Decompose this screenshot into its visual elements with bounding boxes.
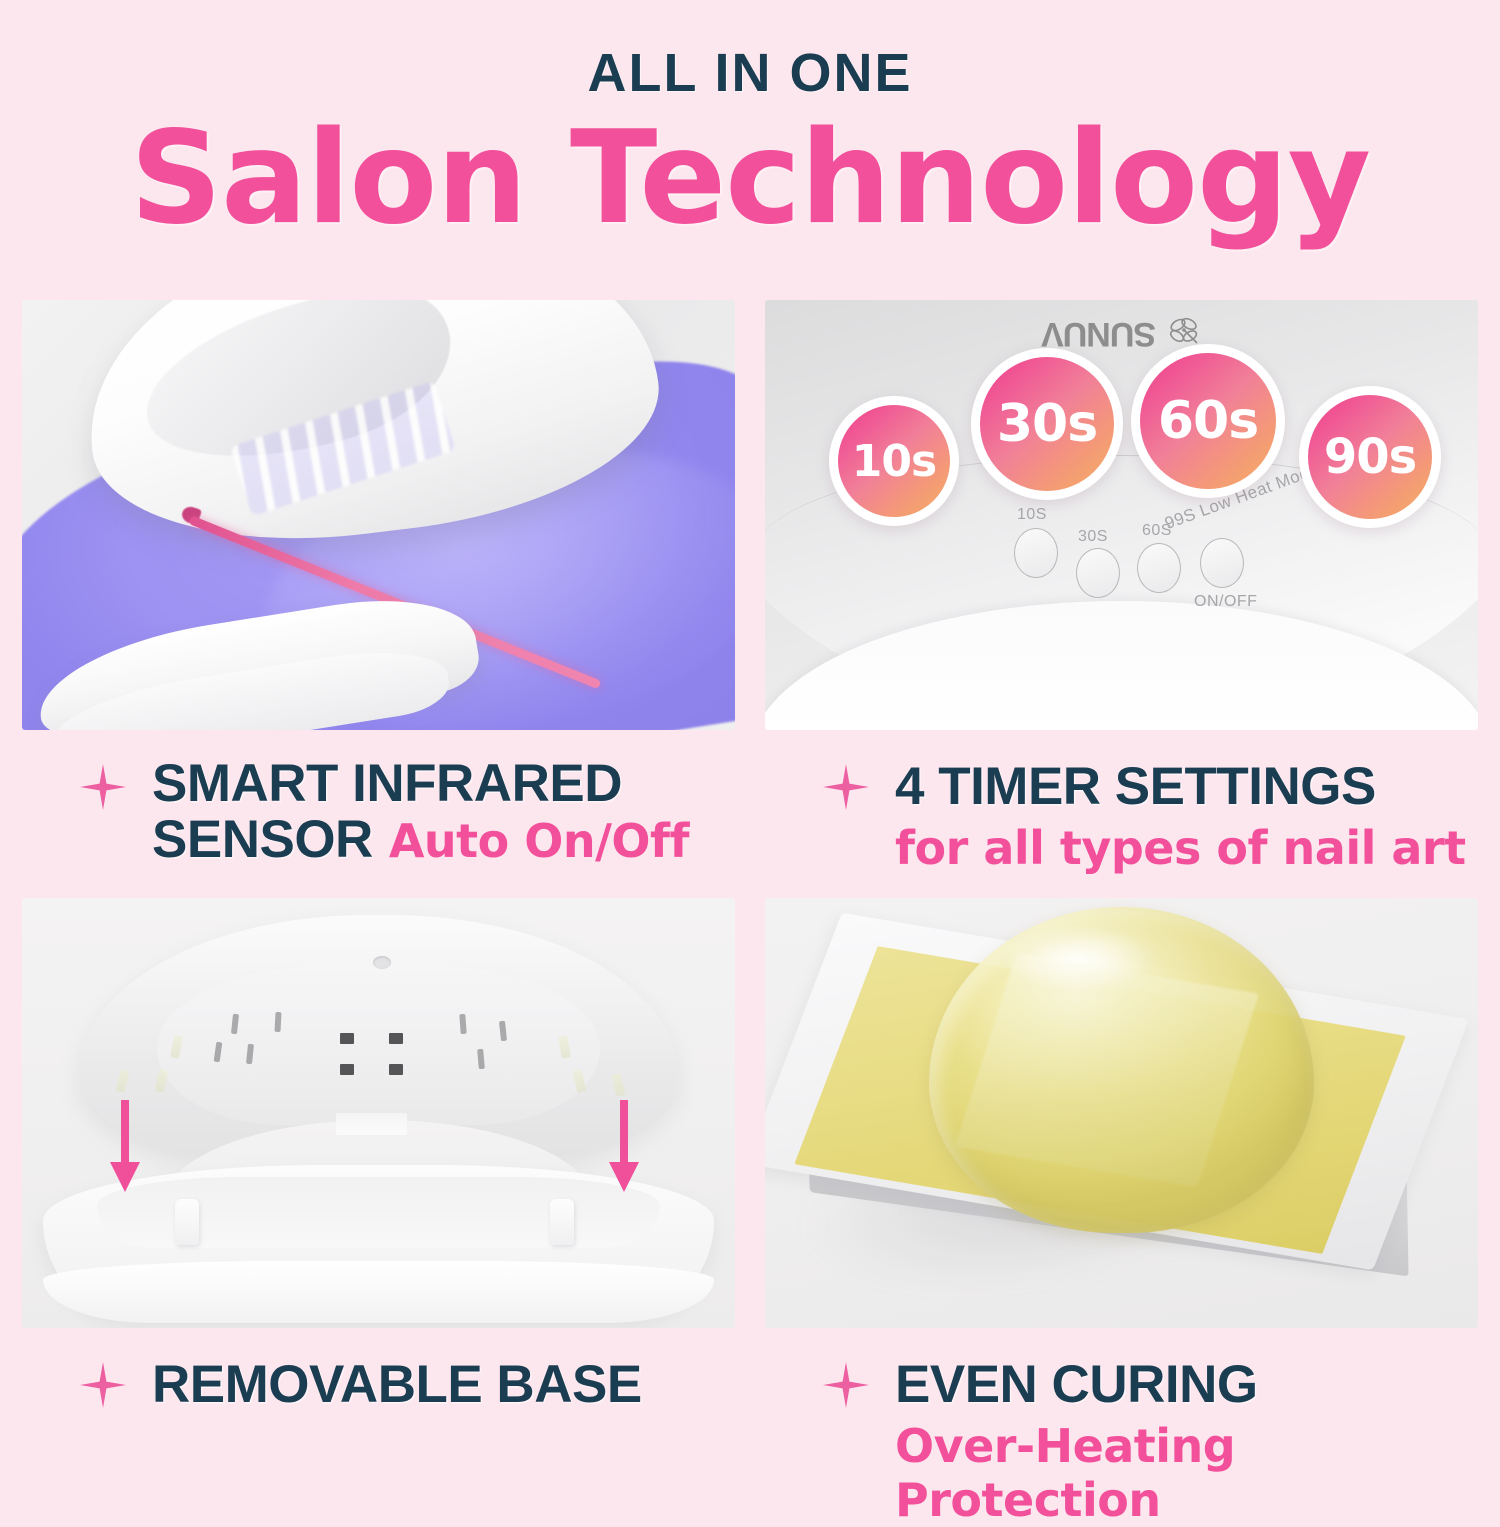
feature-cell-smart-infrared-sensor: SMART INFRARED SENSORAuto On/Off bbox=[22, 300, 735, 880]
caption-line-1: SMART INFRARED bbox=[152, 788, 622, 805]
hood-vent bbox=[340, 1064, 354, 1075]
caption-text-wrap: REMOVABLE BASE bbox=[152, 1354, 642, 1415]
caption-smart-infrared-sensor: SMART INFRARED SENSORAuto On/Off bbox=[22, 730, 735, 880]
caption-title: SMART INFRARED bbox=[152, 754, 622, 813]
feature-cell-even-curing: EVEN CURING Over-Heating Protection bbox=[765, 898, 1478, 1527]
timer-bubble-30s: 30s bbox=[971, 348, 1123, 500]
feature-cell-timer-settings: SUNUV bbox=[765, 300, 1478, 880]
hood-sensor-dot bbox=[373, 956, 391, 969]
lamp-control-panel-photo: SUNUV bbox=[765, 300, 1478, 730]
lamp-removable-base-photo bbox=[22, 898, 735, 1328]
caption-timer-settings: 4 TIMER SETTINGS for all types of nail a… bbox=[765, 730, 1478, 880]
base-alignment-peg bbox=[550, 1199, 574, 1245]
sparkle-icon bbox=[80, 764, 126, 810]
feature-grid: SMART INFRARED SENSORAuto On/Off SUNUV bbox=[22, 300, 1478, 1527]
header-kicker: ALL IN ONE bbox=[0, 46, 1500, 100]
base-alignment-peg bbox=[175, 1199, 199, 1245]
feature-row-2: REMOVABLE BASE bbox=[22, 898, 1478, 1527]
sparkle-icon bbox=[823, 764, 869, 810]
caption-text-wrap: 4 TIMER SETTINGS for all types of nail a… bbox=[895, 756, 1466, 875]
caption-subtitle: for all types of nail art bbox=[895, 821, 1466, 875]
down-arrow-icon bbox=[108, 1100, 142, 1197]
caption-even-curing: EVEN CURING Over-Heating Protection bbox=[765, 1328, 1478, 1527]
feature-row-1: SMART INFRARED SENSORAuto On/Off SUNUV bbox=[22, 300, 1478, 880]
caption-line-2: SENSORAuto On/Off bbox=[152, 844, 689, 861]
uv-lamp-infrared-sensor-photo bbox=[22, 300, 735, 730]
caption-title: EVEN CURING bbox=[895, 1354, 1478, 1415]
timer-bubble-group: 10s 30s 60s 90s bbox=[765, 300, 1478, 730]
sparkle-icon bbox=[80, 1362, 126, 1408]
base-tray-lip bbox=[43, 1261, 713, 1323]
caption-title: REMOVABLE BASE bbox=[152, 1354, 642, 1415]
caption-title: 4 TIMER SETTINGS bbox=[895, 756, 1466, 817]
caption-title-line2: SENSOR bbox=[152, 810, 373, 869]
page-title: Salon Technology bbox=[0, 114, 1500, 245]
hood-vent bbox=[389, 1064, 403, 1075]
caption-removable-base: REMOVABLE BASE bbox=[22, 1328, 735, 1478]
hood-vent bbox=[340, 1033, 354, 1044]
feature-cell-removable-base: REMOVABLE BASE bbox=[22, 898, 735, 1527]
caption-text-wrap: SMART INFRARED SENSORAuto On/Off bbox=[152, 756, 689, 868]
lamp-hood-interior bbox=[157, 965, 600, 1125]
caption-subtitle: Over-Heating Protection bbox=[895, 1419, 1478, 1527]
timer-bubble-60s: 60s bbox=[1131, 344, 1285, 498]
page-header: ALL IN ONE Salon Technology bbox=[0, 0, 1500, 245]
chip-lens-highlight bbox=[1000, 924, 1157, 993]
timer-bubble-10s: 10s bbox=[829, 396, 959, 526]
caption-text-wrap: EVEN CURING Over-Heating Protection bbox=[895, 1354, 1478, 1527]
caption-subtitle: Auto On/Off bbox=[389, 814, 689, 868]
down-arrow-icon bbox=[607, 1100, 641, 1197]
timer-bubble-90s: 90s bbox=[1299, 386, 1441, 528]
hood-vent bbox=[389, 1033, 403, 1044]
hood-center-notch bbox=[336, 1113, 407, 1135]
led-chip-closeup-photo bbox=[765, 898, 1478, 1328]
hood-led-slot bbox=[275, 1012, 282, 1032]
sparkle-icon bbox=[823, 1362, 869, 1408]
